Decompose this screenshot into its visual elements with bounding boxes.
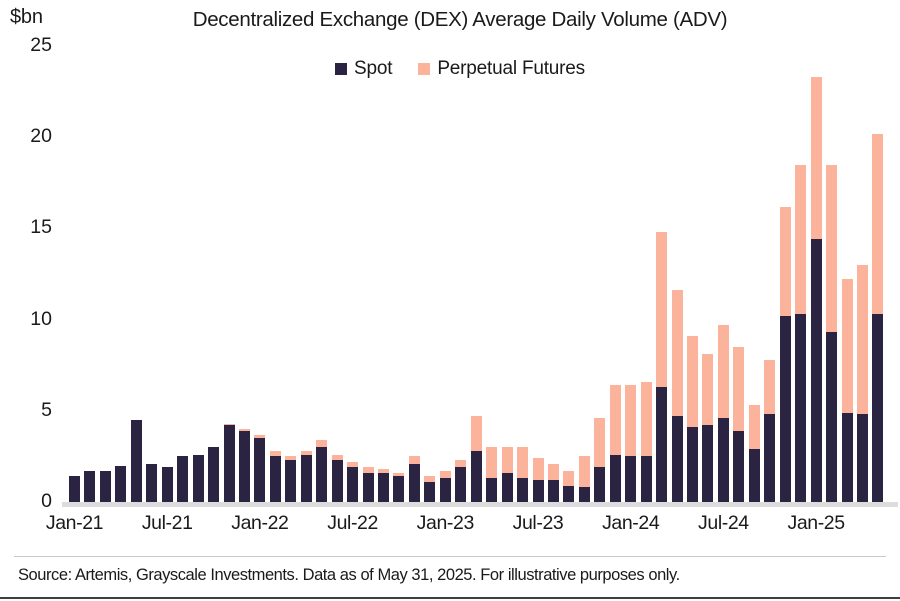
bar-group[interactable] <box>857 265 868 502</box>
bar-segment-spot <box>517 478 528 502</box>
bar-group[interactable] <box>780 207 791 502</box>
bar-segment-perpetual-futures <box>239 429 250 431</box>
bar-segment-perpetual-futures <box>424 476 435 481</box>
bar-segment-perpetual-futures <box>842 279 853 412</box>
bar-group[interactable] <box>764 360 775 502</box>
bar-group[interactable] <box>795 165 806 502</box>
bar-segment-perpetual-futures <box>563 471 574 486</box>
bar-group[interactable] <box>656 232 667 502</box>
bar-group[interactable] <box>579 456 590 502</box>
bar-segment-spot <box>656 387 667 502</box>
y-axis-tick-0: 0 <box>8 492 52 512</box>
bar-group[interactable] <box>239 429 250 502</box>
bar-segment-perpetual-futures <box>393 473 404 477</box>
bar-segment-perpetual-futures <box>533 458 544 480</box>
bar-segment-perpetual-futures <box>764 360 775 415</box>
bar-segment-spot <box>625 456 636 502</box>
bar-segment-perpetual-futures <box>733 347 744 431</box>
bar-group[interactable] <box>177 456 188 502</box>
bar-segment-perpetual-futures <box>254 435 265 439</box>
bar-segment-perpetual-futures <box>502 447 513 473</box>
bar-segment-perpetual-futures <box>270 451 281 456</box>
bar-group[interactable] <box>455 460 466 502</box>
bar-segment-spot <box>224 425 235 502</box>
bar-group[interactable] <box>594 418 605 502</box>
bar-group[interactable] <box>641 382 652 502</box>
bar-group[interactable] <box>471 416 482 502</box>
bar-segment-spot <box>239 431 250 502</box>
bar-segment-spot <box>579 487 590 502</box>
bar-segment-spot <box>563 486 574 502</box>
bar-group[interactable] <box>502 447 513 502</box>
bar-segment-spot <box>162 467 173 502</box>
bar-segment-spot <box>471 451 482 502</box>
bar-segment-perpetual-futures <box>687 336 698 427</box>
bar-segment-perpetual-futures <box>471 416 482 451</box>
bar-segment-spot <box>409 464 420 502</box>
bar-segment-spot <box>131 420 142 502</box>
bar-segment-perpetual-futures <box>347 462 358 467</box>
bar-segment-spot <box>193 455 204 502</box>
bar-segment-perpetual-futures <box>409 456 420 463</box>
bar-segment-spot <box>872 314 883 502</box>
bar-segment-spot <box>270 456 281 502</box>
chart-title: Decentralized Exchange (DEX) Average Dai… <box>80 8 840 32</box>
bar-group[interactable] <box>115 466 126 502</box>
bar-segment-perpetual-futures <box>332 455 343 460</box>
bar-segment-perpetual-futures <box>316 440 327 447</box>
bar-group[interactable] <box>811 77 822 502</box>
bar-group[interactable] <box>332 455 343 502</box>
bar-segment-spot <box>455 467 466 502</box>
bar-segment-spot <box>795 314 806 502</box>
bar-segment-spot <box>733 431 744 502</box>
bar-group[interactable] <box>224 424 235 502</box>
bar-segment-spot <box>177 456 188 502</box>
bar-group[interactable] <box>100 471 111 502</box>
bar-segment-perpetual-futures <box>455 460 466 467</box>
bar-segment-spot <box>502 473 513 502</box>
bar-segment-perpetual-futures <box>826 165 837 333</box>
bar-group[interactable] <box>254 435 265 502</box>
bar-segment-spot <box>533 480 544 502</box>
y-axis-tick-20: 20 <box>8 127 52 147</box>
bar-group[interactable] <box>347 462 358 502</box>
bar-group[interactable] <box>316 440 327 502</box>
bar-group[interactable] <box>285 456 296 502</box>
bar-segment-perpetual-futures <box>795 165 806 315</box>
bar-segment-spot <box>702 425 713 502</box>
bar-segment-spot <box>84 471 95 502</box>
bar-group[interactable] <box>533 458 544 502</box>
footer-bottom-bar <box>0 597 900 599</box>
bar-segment-spot <box>780 316 791 502</box>
bar-group[interactable] <box>733 347 744 502</box>
bar-segment-spot <box>301 455 312 502</box>
bar-segment-spot <box>347 467 358 502</box>
bar-segment-spot <box>208 447 219 502</box>
bar-segment-spot <box>548 480 559 502</box>
bar-segment-spot <box>718 418 729 502</box>
bar-segment-perpetual-futures <box>610 385 621 454</box>
bar-segment-perpetual-futures <box>301 451 312 455</box>
y-axis-tick-25: 25 <box>8 36 52 56</box>
bar-segment-spot <box>393 476 404 502</box>
bar-group[interactable] <box>702 354 713 502</box>
bar-segment-spot <box>115 466 126 502</box>
bar-segment-perpetual-futures <box>872 134 883 315</box>
bar-group[interactable] <box>718 325 729 502</box>
bar-segment-spot <box>486 478 497 502</box>
bar-group[interactable] <box>193 455 204 502</box>
bar-segment-perpetual-futures <box>718 325 729 418</box>
bar-segment-spot <box>594 467 605 502</box>
bar-segment-spot <box>764 414 775 502</box>
bar-group[interactable] <box>872 134 883 502</box>
bar-group[interactable] <box>84 471 95 502</box>
bar-segment-perpetual-futures <box>672 290 683 416</box>
bar-group[interactable] <box>162 467 173 502</box>
bar-segment-spot <box>146 464 157 502</box>
x-axis-line <box>62 502 898 507</box>
footer-divider <box>14 556 886 557</box>
bar-segment-spot <box>610 455 621 502</box>
bar-group[interactable] <box>548 464 559 502</box>
bar-group[interactable] <box>131 420 142 502</box>
plot-area <box>62 46 894 502</box>
bar-segment-spot <box>316 447 327 502</box>
bar-group[interactable] <box>486 447 497 502</box>
bar-segment-spot <box>440 478 451 502</box>
bar-group[interactable] <box>301 451 312 502</box>
bar-segment-spot <box>332 460 343 502</box>
bar-segment-spot <box>363 473 374 502</box>
bar-segment-perpetual-futures <box>579 456 590 487</box>
source-note: Source: Artemis, Grayscale Investments. … <box>18 566 680 585</box>
bar-segment-spot <box>749 449 760 502</box>
bar-segment-perpetual-futures <box>285 456 296 460</box>
y-axis-tick-5: 5 <box>8 401 52 421</box>
bar-group[interactable] <box>146 464 157 502</box>
bar-group[interactable] <box>409 456 420 502</box>
bar-group[interactable] <box>610 385 621 502</box>
bar-segment-perpetual-futures <box>517 447 528 478</box>
bar-segment-perpetual-futures <box>594 418 605 467</box>
bar-segment-spot <box>69 476 80 502</box>
bar-segment-perpetual-futures <box>641 382 652 457</box>
bar-group[interactable] <box>393 473 404 502</box>
bar-group[interactable] <box>440 471 451 502</box>
bar-segment-spot <box>100 471 111 502</box>
chart-figure: $bn Decentralized Exchange (DEX) Average… <box>0 0 900 601</box>
bar-segment-perpetual-futures <box>857 265 868 415</box>
bar-segment-perpetual-futures <box>702 354 713 425</box>
bar-segment-perpetual-futures <box>780 207 791 316</box>
bar-segment-spot <box>687 427 698 502</box>
bar-segment-spot <box>826 332 837 502</box>
bar-group[interactable] <box>749 405 760 502</box>
y-axis-tick-10: 10 <box>8 310 52 330</box>
bar-segment-perpetual-futures <box>625 385 636 456</box>
bar-segment-perpetual-futures <box>749 405 760 449</box>
bar-group[interactable] <box>69 476 80 502</box>
bar-segment-perpetual-futures <box>440 471 451 478</box>
bar-group[interactable] <box>625 385 636 502</box>
y-axis-tick-15: 15 <box>8 218 52 238</box>
bar-group[interactable] <box>826 165 837 502</box>
bar-group[interactable] <box>563 471 574 502</box>
bar-segment-perpetual-futures <box>378 469 389 473</box>
bar-segment-perpetual-futures <box>656 232 667 387</box>
bar-segment-perpetual-futures <box>224 424 235 426</box>
x-axis-tick-Jan-25: Jan-25 <box>761 512 871 535</box>
bar-group[interactable] <box>517 447 528 502</box>
bar-segment-spot <box>254 438 265 502</box>
bar-segment-spot <box>811 239 822 502</box>
bar-segment-spot <box>672 416 683 502</box>
bar-segment-spot <box>378 473 389 502</box>
bar-group[interactable] <box>672 290 683 502</box>
bar-segment-spot <box>285 460 296 502</box>
bar-segment-perpetual-futures <box>548 464 559 480</box>
x-axis-tick-labels: Jan-21Jul-21Jan-22Jul-22Jan-23Jul-23Jan-… <box>0 512 900 546</box>
bar-segment-perpetual-futures <box>363 467 374 472</box>
bar-group[interactable] <box>208 447 219 502</box>
bar-segment-spot <box>842 413 853 502</box>
bar-group[interactable] <box>424 476 435 502</box>
bar-segment-perpetual-futures <box>486 447 497 478</box>
bar-segment-perpetual-futures <box>811 77 822 239</box>
bar-group[interactable] <box>270 451 281 502</box>
y-axis-tick-labels: 0510152025 <box>0 0 52 601</box>
bar-segment-spot <box>857 414 868 502</box>
bar-segment-spot <box>641 456 652 502</box>
bar-group[interactable] <box>378 469 389 502</box>
bar-segment-spot <box>424 482 435 502</box>
bar-group[interactable] <box>687 336 698 502</box>
bar-group[interactable] <box>363 467 374 502</box>
bar-group[interactable] <box>842 279 853 502</box>
